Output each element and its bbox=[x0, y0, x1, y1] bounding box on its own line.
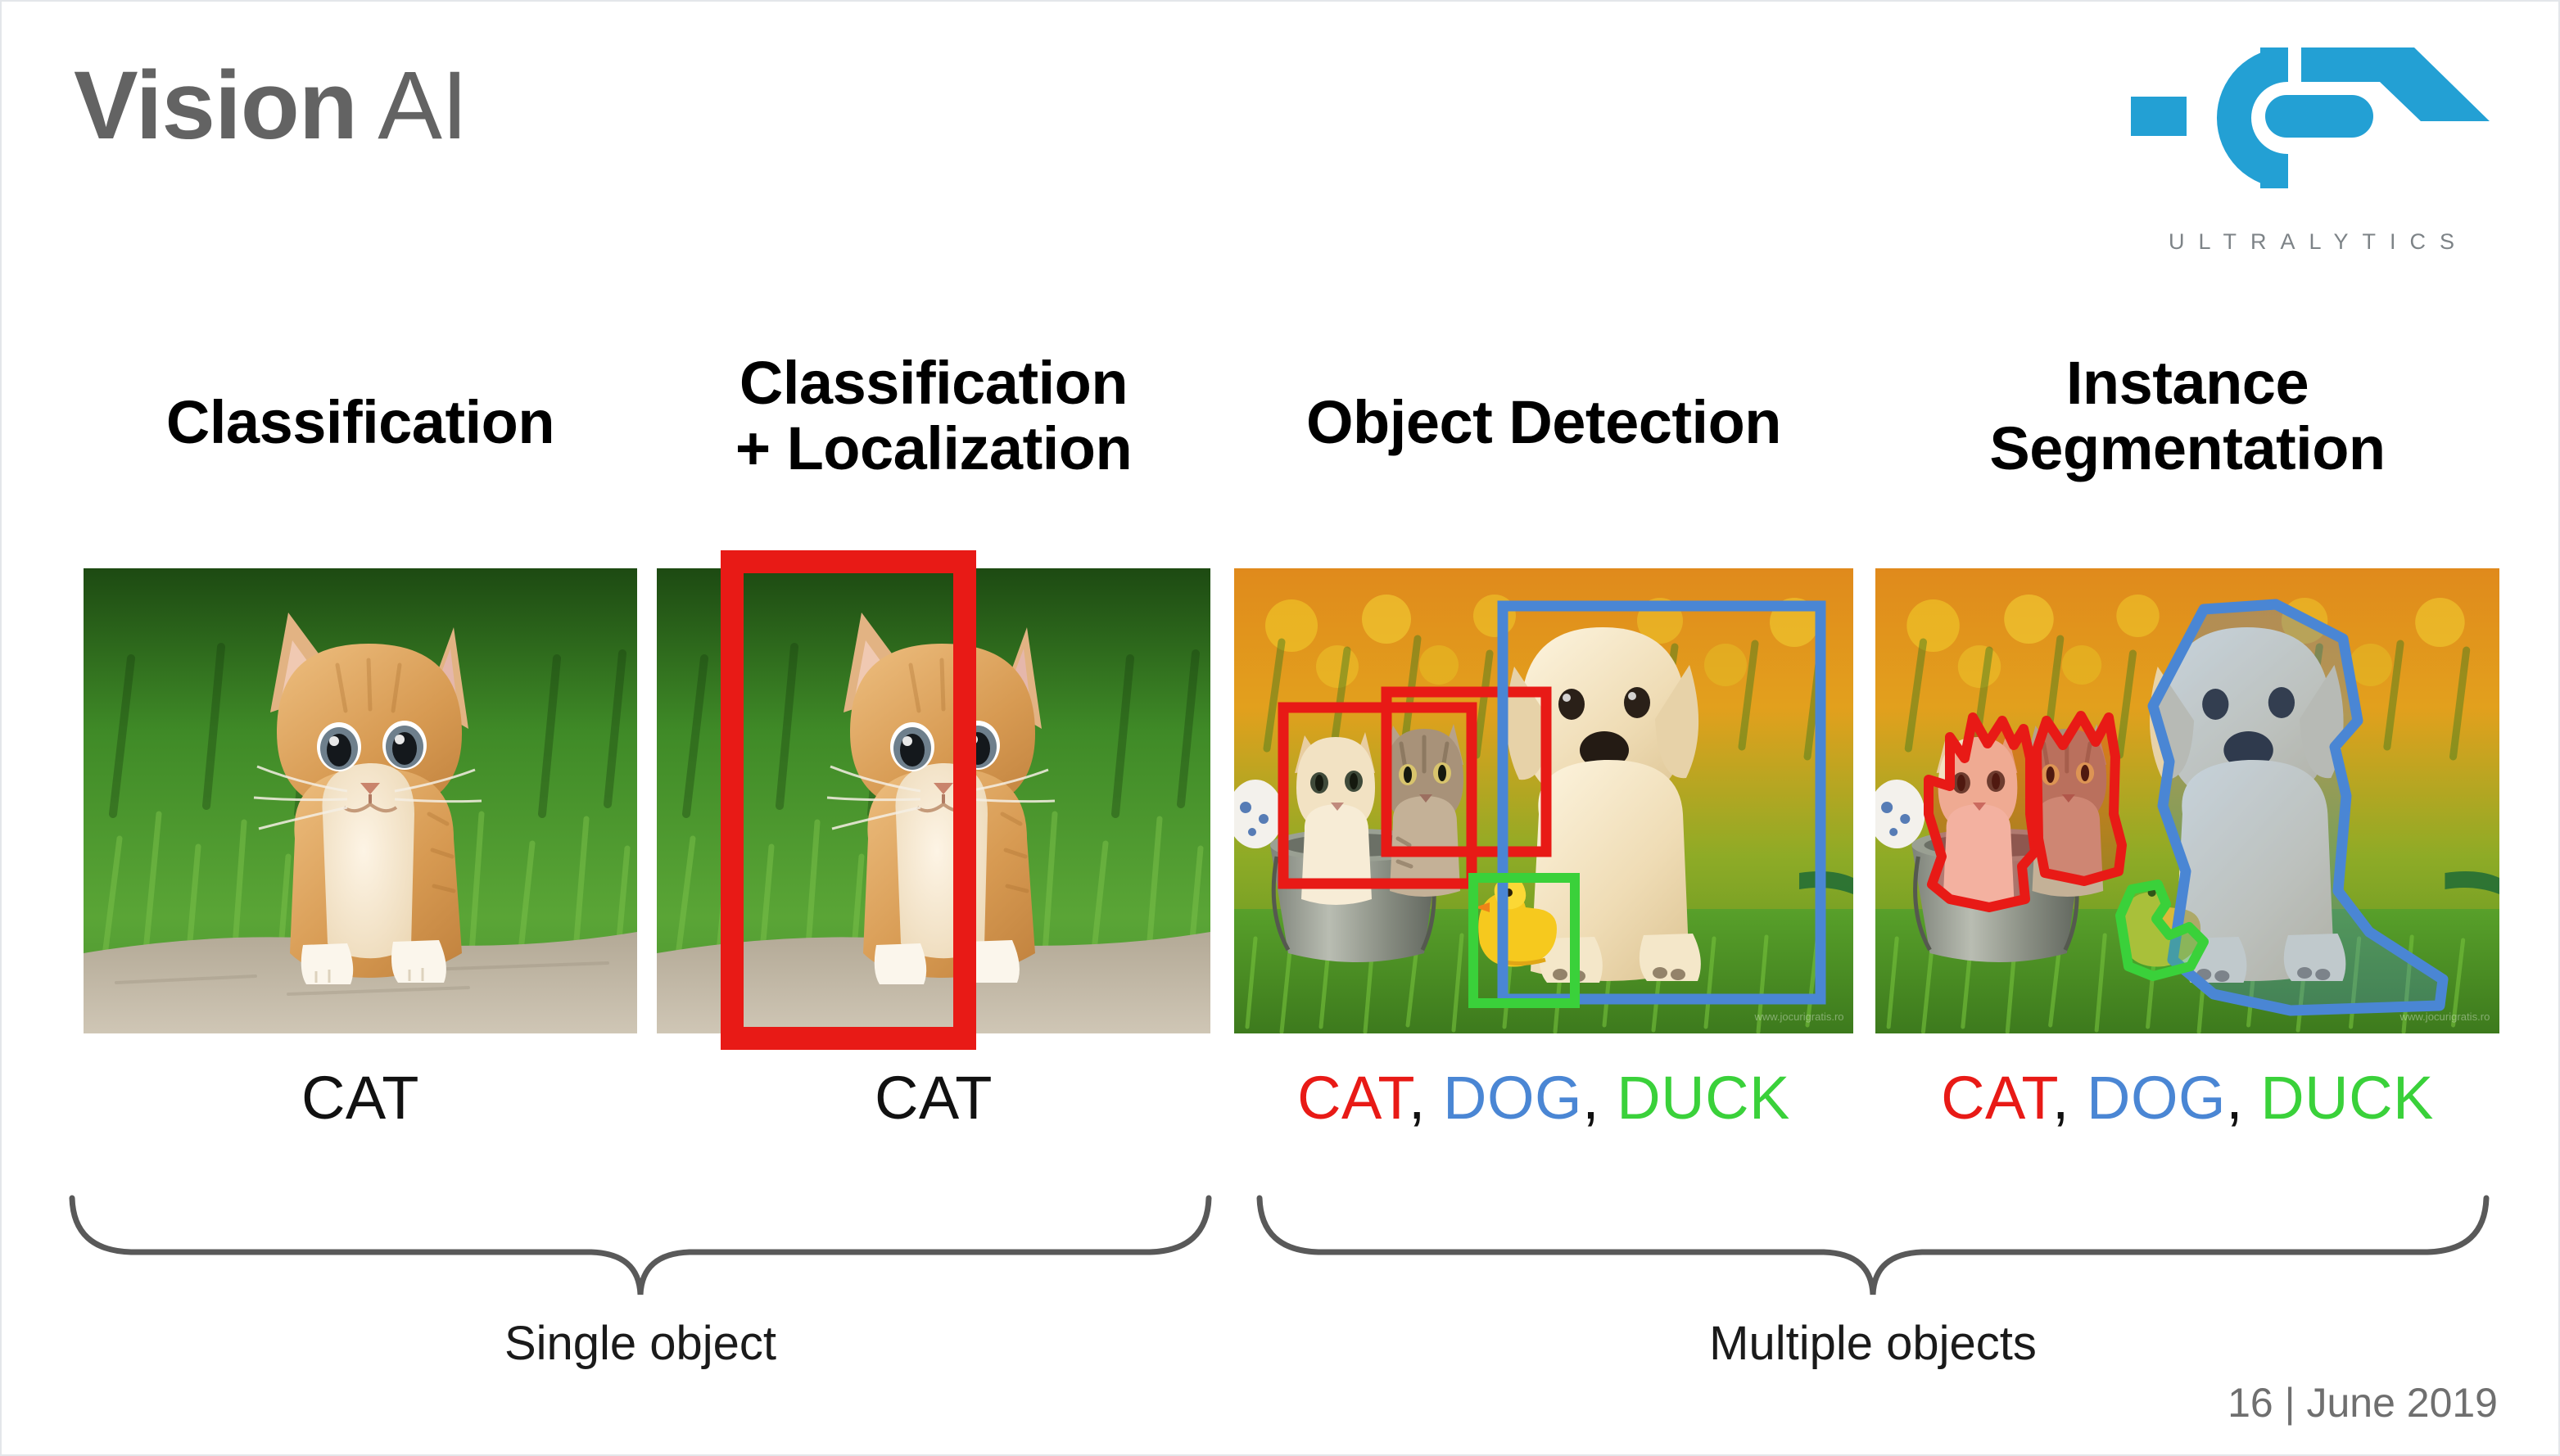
bounding-box-cat bbox=[644, 544, 1223, 1058]
class-token-sep-1: , bbox=[2052, 1064, 2087, 1132]
slide-canvas: Vision AI ULTRALYTICS Classification bbox=[0, 0, 2560, 1456]
bounding-box-cat-1 bbox=[1283, 708, 1472, 884]
class-token-sep-2: , bbox=[2226, 1064, 2260, 1132]
class-token-dog: DOG bbox=[1443, 1064, 1582, 1132]
heading-line-2: + Localization bbox=[657, 416, 1210, 482]
class-token-cat: CAT bbox=[875, 1064, 993, 1132]
ginger-kitten-on-stone-photo bbox=[84, 568, 637, 1033]
brace-multiple-objects bbox=[1255, 1193, 2491, 1300]
ultralytics-mark-icon bbox=[2119, 25, 2504, 229]
column-heading-classification-localization: Classification + Localization bbox=[657, 350, 1210, 482]
bounding-box-duck bbox=[1473, 878, 1575, 1003]
segmentation-mask-cat-2 bbox=[2037, 716, 2122, 881]
segmentation-masks-overlay bbox=[1875, 568, 2499, 1033]
class-token-sep-1: , bbox=[1409, 1064, 1443, 1132]
class-label-object-detection: CAT, DOG, DUCK bbox=[1234, 1063, 1853, 1133]
brace-single-object bbox=[67, 1193, 1214, 1300]
detection-boxes-overlay bbox=[1234, 568, 1853, 1033]
title-light: AI bbox=[357, 52, 468, 160]
class-label-classification: CAT bbox=[84, 1063, 637, 1133]
logo-block: ULTRALYTICS bbox=[2119, 25, 2504, 295]
photo-object-detection: www.jocurigratis.ro bbox=[1234, 568, 1853, 1033]
heading-line-1: Classification bbox=[657, 350, 1210, 416]
heading-line-1: Instance bbox=[1875, 350, 2499, 416]
column-heading-classification: Classification bbox=[84, 390, 637, 455]
heading-line-2: Segmentation bbox=[1875, 416, 2499, 482]
brace-label-single-object: Single object bbox=[67, 1316, 1214, 1371]
brace-label-multiple-objects: Multiple objects bbox=[1255, 1316, 2491, 1371]
logo-wordmark: ULTRALYTICS bbox=[2119, 229, 2504, 255]
segmentation-mask-cat-1 bbox=[1929, 717, 2035, 907]
class-token-duck: DUCK bbox=[1617, 1064, 1790, 1132]
page-title: Vision AI bbox=[74, 57, 468, 154]
class-token-cat: CAT bbox=[1297, 1064, 1409, 1132]
class-token-cat: CAT bbox=[1941, 1064, 2052, 1132]
title-strong: Vision bbox=[74, 52, 357, 160]
class-token-sep-2: , bbox=[1582, 1064, 1617, 1132]
photo-classification bbox=[84, 568, 637, 1033]
class-token-duck: DUCK bbox=[2260, 1064, 2434, 1132]
column-heading-instance-segmentation: Instance Segmentation bbox=[1875, 350, 2499, 482]
class-token-dog: DOG bbox=[2087, 1064, 2226, 1132]
class-token-cat: CAT bbox=[301, 1064, 419, 1132]
photo-classification-localization bbox=[657, 568, 1210, 1033]
class-label-classification-localization: CAT bbox=[657, 1063, 1210, 1133]
slide-footer: 16 | June 2019 bbox=[2228, 1379, 2498, 1427]
class-label-instance-segmentation: CAT, DOG, DUCK bbox=[1875, 1063, 2499, 1133]
column-heading-object-detection: Object Detection bbox=[1234, 390, 1853, 455]
photo-instance-segmentation: www.jocurigratis.ro bbox=[1875, 568, 2499, 1033]
